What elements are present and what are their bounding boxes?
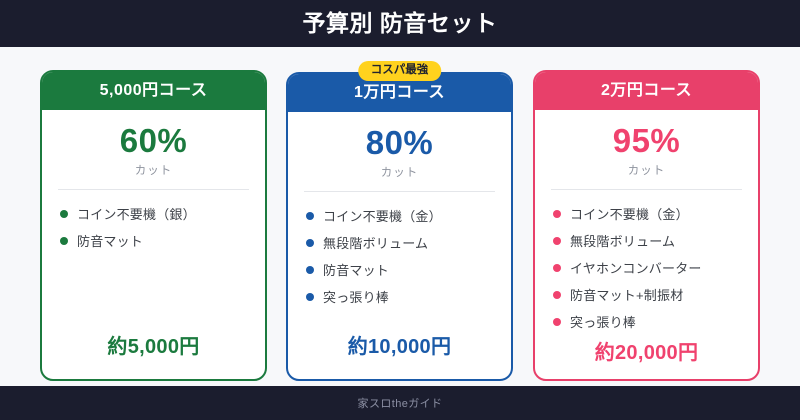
card-price: 約10,000円 (302, 330, 497, 379)
infographic-page: 予算別 防音セット 5,000円コース 60% カット コイン不要機（銀） (0, 0, 800, 420)
list-item: 突っ張り棒 (306, 284, 497, 311)
feature-list-course-5000: コイン不要機（銀） 防音マット (56, 190, 251, 330)
bullet-dot-icon (553, 264, 561, 272)
site-credit: 家スロtheガイド (358, 395, 443, 411)
page-title: 予算別 防音セット (303, 12, 498, 35)
feature-label: コイン不要機（金） (570, 201, 689, 228)
card-body-course-20000: 95% カット コイン不要機（金） 無段階ボリューム イヤホンコン (535, 110, 758, 385)
card-price: 約20,000円 (549, 336, 744, 385)
list-item: コイン不要機（銀） (60, 201, 251, 228)
feature-label: 防音マット (323, 257, 389, 284)
best-value-badge: コスパ最強 (358, 61, 442, 81)
bullet-dot-icon (306, 212, 314, 220)
feature-label: 防音マット+制振材 (570, 282, 683, 309)
footer-bar: 家スロtheガイド (0, 386, 800, 420)
card-body-course-5000: 60% カット コイン不要機（銀） 防音マット 約5,000円 (42, 110, 265, 379)
reduction-percent: 80% (302, 126, 497, 161)
reduction-block: 60% カット (56, 110, 251, 178)
feature-list-course-10000: コイン不要機（金） 無段階ボリューム 防音マット 突っ張り棒 (302, 192, 497, 330)
feature-label: コイン不要機（銀） (77, 201, 196, 228)
bullet-dot-icon (306, 266, 314, 274)
card-price: 約5,000円 (56, 330, 251, 379)
card-body-course-10000: 80% カット コイン不要機（金） 無段階ボリューム 防音マット (288, 112, 511, 379)
card-header-course-5000: 5,000円コース (42, 72, 265, 110)
card-title: 1万円コース (354, 85, 445, 101)
pricing-card-course-20000[interactable]: 2万円コース 95% カット コイン不要機（金） 無段階ボリューム (533, 70, 760, 381)
list-item: 防音マット (60, 228, 251, 255)
bullet-dot-icon (306, 239, 314, 247)
feature-label: コイン不要機（金） (323, 203, 442, 230)
list-item: 突っ張り棒 (553, 309, 744, 336)
feature-label: 突っ張り棒 (323, 284, 389, 311)
feature-label: 無段階ボリューム (323, 230, 428, 257)
list-item: 無段階ボリューム (306, 230, 497, 257)
feature-label: イヤホンコンバーター (570, 255, 702, 282)
list-item: コイン不要機（金） (553, 201, 744, 228)
bullet-dot-icon (553, 210, 561, 218)
card-header-course-20000: 2万円コース (535, 72, 758, 110)
list-item: 無段階ボリューム (553, 228, 744, 255)
list-item: イヤホンコンバーター (553, 255, 744, 282)
reduction-block: 95% カット (549, 110, 744, 178)
feature-label: 突っ張り棒 (570, 309, 636, 336)
feature-label: 防音マット (77, 228, 143, 255)
list-item: 防音マット (306, 257, 497, 284)
pricing-cards-row: 5,000円コース 60% カット コイン不要機（銀） 防音マット (0, 47, 800, 386)
list-item: コイン不要機（金） (306, 203, 497, 230)
feature-label: 無段階ボリューム (570, 228, 675, 255)
bullet-dot-icon (306, 293, 314, 301)
bullet-dot-icon (553, 291, 561, 299)
reduction-label: カット (302, 164, 497, 180)
bullet-dot-icon (60, 210, 68, 218)
reduction-percent: 95% (549, 124, 744, 159)
feature-list-course-20000: コイン不要機（金） 無段階ボリューム イヤホンコンバーター 防音マット+制振材 (549, 190, 744, 336)
bullet-dot-icon (553, 237, 561, 245)
bullet-dot-icon (60, 237, 68, 245)
header-bar: 予算別 防音セット (0, 0, 800, 47)
bullet-dot-icon (553, 318, 561, 326)
pricing-card-course-10000[interactable]: コスパ最強 1万円コース 80% カット コイン不要機（金） 無 (286, 72, 513, 381)
reduction-percent: 60% (56, 124, 251, 159)
reduction-label: カット (549, 162, 744, 178)
pricing-card-course-5000[interactable]: 5,000円コース 60% カット コイン不要機（銀） 防音マット (40, 70, 267, 381)
list-item: 防音マット+制振材 (553, 282, 744, 309)
card-title: 2万円コース (601, 83, 692, 99)
reduction-label: カット (56, 162, 251, 178)
reduction-block: 80% カット (302, 112, 497, 180)
card-title: 5,000円コース (100, 83, 208, 99)
